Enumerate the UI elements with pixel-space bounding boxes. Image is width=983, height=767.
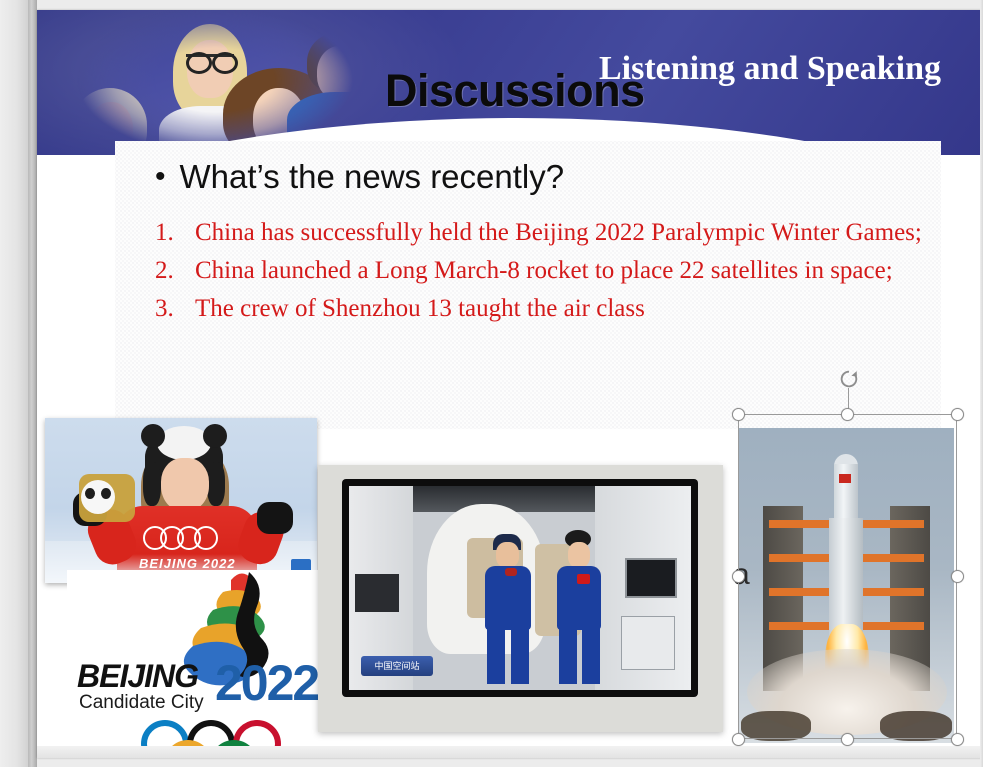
list-item-text: The crew of Shenzhou 13 taught the air c…	[195, 291, 925, 327]
unit-title: Listening and Speaking	[599, 52, 941, 86]
resize-handle-middle-left[interactable]	[732, 570, 745, 583]
rotate-handle-icon[interactable]	[838, 368, 860, 390]
news-list: 1. China has successfully held the Beiji…	[155, 215, 925, 329]
logo-year: 2022	[215, 654, 318, 712]
bullet-heading: What’s the news recently?	[180, 157, 565, 197]
page-title: Discussions	[385, 68, 645, 113]
list-item-number: 1.	[155, 215, 195, 251]
resize-handle-top-center[interactable]	[841, 408, 854, 421]
bullet-marker-icon: •	[155, 157, 166, 197]
app-surface: Listening and Speaking Discussions • Wha…	[0, 0, 983, 767]
list-item-number: 3.	[155, 291, 195, 327]
channel-tag: 中国空间站	[361, 656, 433, 676]
left-margin-gutter	[0, 0, 28, 767]
list-item: 2. China launched a Long March-8 rocket …	[155, 253, 925, 289]
resize-handle-middle-right[interactable]	[951, 570, 964, 583]
list-item: 1. China has successfully held the Beiji…	[155, 215, 925, 251]
logo-subline: Candidate City	[79, 692, 204, 714]
resize-handle-top-left[interactable]	[732, 408, 745, 421]
space-station-class-tv-photo[interactable]: 中国空间站	[318, 465, 723, 732]
bullet-heading-row: • What’s the news recently?	[155, 157, 915, 197]
slide-banner: Listening and Speaking Discussions	[37, 10, 983, 155]
content-panel[interactable]: • What’s the news recently? 1. China has…	[115, 141, 941, 429]
vertical-scrollbar[interactable]	[28, 0, 37, 767]
logo-wordmark: BEIJING	[77, 658, 198, 695]
resize-handle-bottom-center[interactable]	[841, 733, 854, 746]
list-item-text: China launched a Long March-8 rocket to …	[195, 253, 925, 289]
list-item: 3. The crew of Shenzhou 13 taught the ai…	[155, 291, 925, 327]
list-item-number: 2.	[155, 253, 195, 289]
skier-beijing-2022-photo[interactable]: BEIJING 2022	[45, 418, 317, 583]
resize-handle-top-right[interactable]	[951, 408, 964, 421]
resize-handle-bottom-right[interactable]	[951, 733, 964, 746]
list-item-text: China has successfully held the Beijing …	[195, 215, 925, 251]
slide-bottom-strip	[37, 746, 983, 758]
long-march-8-rocket-launch-photo[interactable]	[739, 428, 954, 743]
resize-handle-bottom-left[interactable]	[732, 733, 745, 746]
